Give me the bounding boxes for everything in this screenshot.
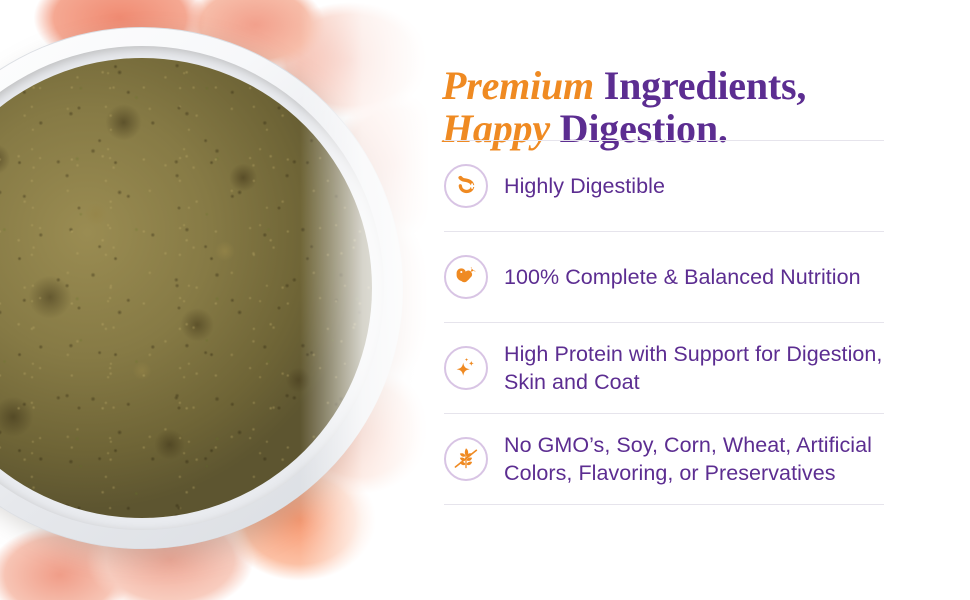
page-title: Premium Ingredients, Happy Digestion. <box>442 65 962 151</box>
product-feature-banner: Premium Ingredients, Happy Digestion. Hi… <box>0 0 970 600</box>
chicken-drumsticks-icon <box>444 255 488 299</box>
feature-list: Highly Digestible 100% Complete & Balanc… <box>444 140 886 505</box>
sparkle-star-icon <box>444 346 488 390</box>
list-item-label: Highly Digestible <box>504 172 665 200</box>
list-item: No GMO’s, Soy, Corn, Wheat, Artificial C… <box>444 414 886 504</box>
list-item-label: 100% Complete & Balanced Nutrition <box>504 263 861 291</box>
product-photo <box>0 0 430 600</box>
stomach-plus-icon <box>444 164 488 208</box>
list-item: 100% Complete & Balanced Nutrition <box>444 232 886 322</box>
list-item: Highly Digestible <box>444 141 886 231</box>
list-item: High Protein with Support for Digestion,… <box>444 323 886 413</box>
content-panel: Premium Ingredients, Happy Digestion. Hi… <box>430 0 970 600</box>
divider <box>444 504 884 505</box>
headline-rest-ingredients: Ingredients, <box>594 63 806 108</box>
list-item-label: High Protein with Support for Digestion,… <box>504 340 886 397</box>
photo-white-fade <box>300 0 430 600</box>
list-item-label: No GMO’s, Soy, Corn, Wheat, Artificial C… <box>504 431 886 488</box>
headline-accent-premium: Premium <box>442 63 594 108</box>
no-wheat-icon <box>444 437 488 481</box>
